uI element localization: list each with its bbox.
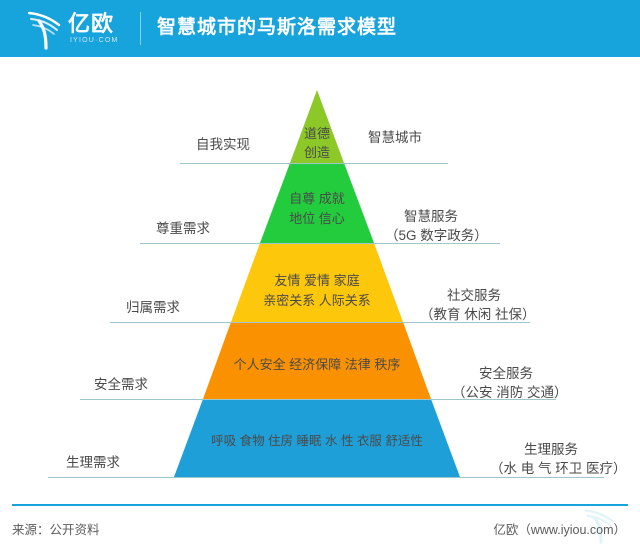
footer-rule [12, 504, 628, 506]
tier4-text-line1: 自尊 成就 [289, 189, 345, 209]
footer-source: 来源：公开资料 [12, 519, 100, 538]
yiou-leaf-watermark-icon [578, 506, 624, 544]
right-label-smart-city: 智慧城市 [368, 128, 422, 147]
right-sub-physiological-service: （水 电 气 环卫 医疗） [490, 459, 627, 478]
tier5-text-line2: 创造 [304, 143, 330, 163]
left-label-esteem: 尊重需求 [90, 219, 210, 238]
right-label-social-service: 社交服务 [447, 286, 501, 305]
tier2-text-line1: 个人安全 经济保障 法律 秩序 [234, 355, 401, 375]
right-label-physiological-service: 生理服务 [524, 440, 578, 459]
tier4-text-line2: 地位 信心 [289, 209, 345, 229]
right-label-smart-service: 智慧服务 [404, 207, 458, 226]
left-label-belonging: 归属需求 [60, 298, 180, 317]
left-label-physiological: 生理需求 [0, 453, 120, 472]
right-sub-safety-service: （公安 消防 交通） [452, 383, 568, 402]
right-sub-social-service: （教育 休闲 社保） [420, 305, 536, 324]
tier5-text-line1: 道德 [304, 124, 330, 144]
tier1-text-line1: 呼吸 食物 住房 睡眠 水 性 衣服 舒适性 [211, 431, 423, 451]
infographic-page: 亿欧 IYIOU·COM 智慧城市的马斯洛需求模型 自我实现 尊重需求 归属需求… [0, 0, 640, 546]
left-label-safety: 安全需求 [28, 375, 148, 394]
left-label-self-actualization: 自我实现 [130, 135, 250, 154]
tier3-text-line2: 亲密关系 人际关系 [263, 291, 371, 311]
tier-rule-5 [180, 163, 448, 164]
right-label-safety-service: 安全服务 [479, 364, 533, 383]
tier3-text-line1: 友情 爱情 家庭 [274, 271, 359, 291]
right-sub-smart-service: （5G 数字政务） [385, 226, 488, 245]
